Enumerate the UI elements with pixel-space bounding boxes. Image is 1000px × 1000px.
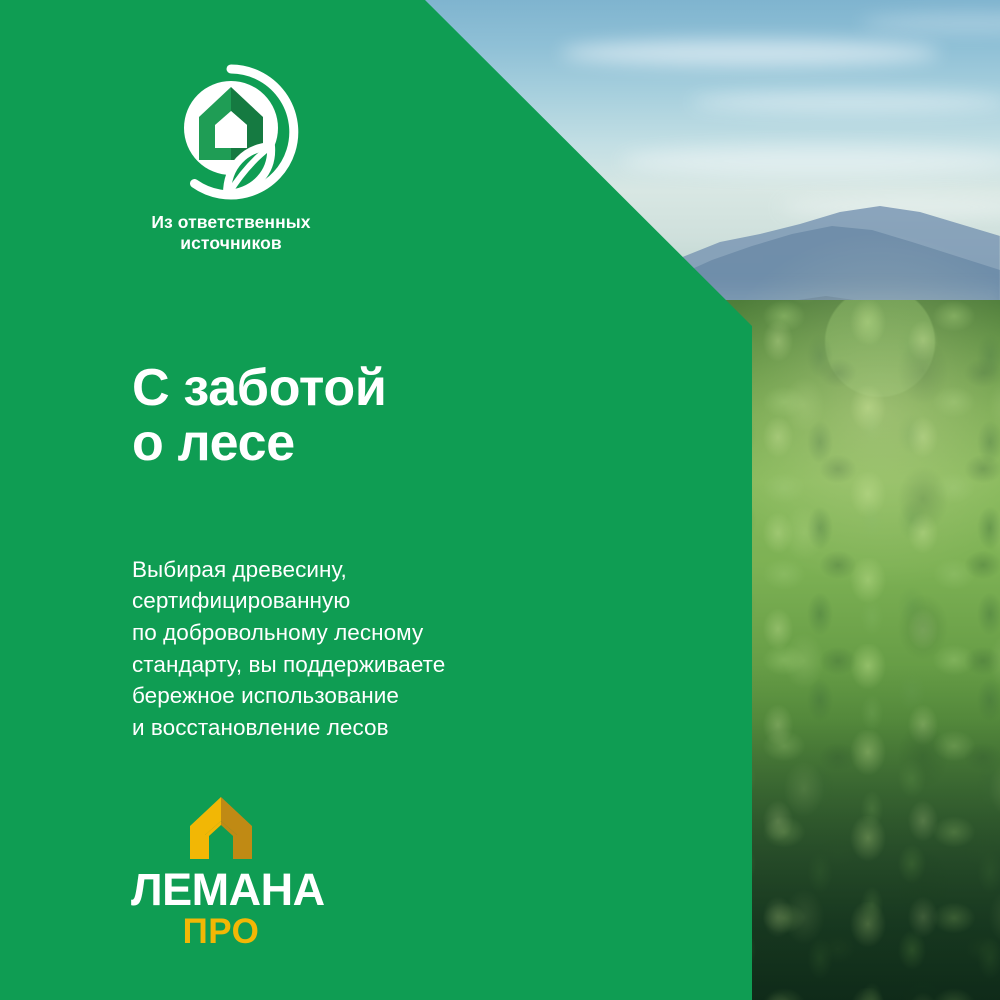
house-leaf-circle-emblem-icon [161, 62, 301, 202]
brand-name: ЛЕМАНА [131, 867, 311, 912]
poster-content: Из ответственных источников С заботой о … [0, 0, 752, 1000]
brand-sub-name: ПРО [131, 914, 311, 951]
page-title: С заботой о лесе [132, 361, 386, 472]
lemana-house-logo-icon [184, 795, 258, 861]
certification-caption: Из ответственных источников [131, 212, 331, 255]
body-paragraph: Выбирая древесину, сертифицированную по … [132, 554, 445, 744]
certification-badge: Из ответственных источников [131, 62, 331, 255]
poster-canvas: Из ответственных источников С заботой о … [0, 0, 1000, 1000]
brand-lockup: ЛЕМАНА ПРО [131, 795, 311, 951]
